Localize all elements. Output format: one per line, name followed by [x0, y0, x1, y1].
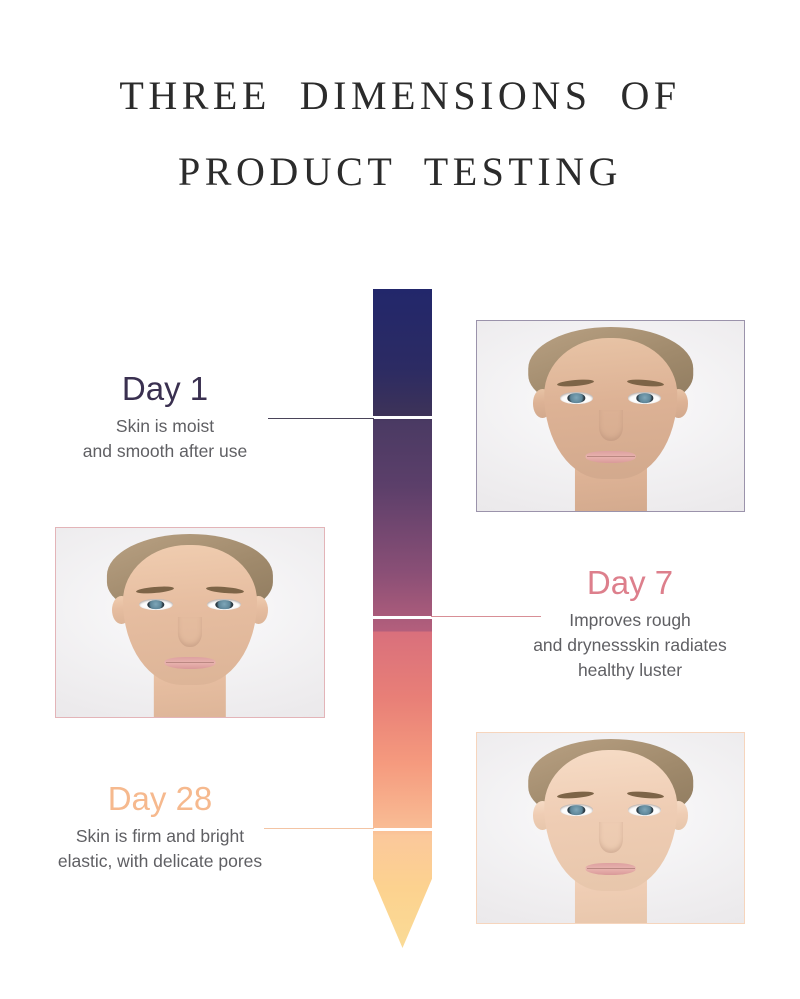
- portrait-iris-left: [568, 805, 585, 815]
- portrait-lip-line: [586, 868, 634, 869]
- timeline-bar: [373, 289, 432, 948]
- photo-day-28: [476, 732, 745, 924]
- page-title: THREE DIMENSIONS OF PRODUCT TESTING: [0, 58, 800, 210]
- photo-day-1: [476, 320, 745, 512]
- portrait-eye-left: [560, 804, 593, 815]
- portrait-eye-right: [207, 599, 241, 610]
- portrait-lip-line: [586, 456, 634, 457]
- portrait-lip-line: [166, 662, 214, 663]
- portrait-image-day-1: [477, 321, 744, 511]
- milestone-day-7: Day 7 Improves rough and drynessskin rad…: [470, 562, 790, 683]
- portrait-eye-left: [139, 599, 173, 610]
- milestone-description-day-1: Skin is moist and smooth after use: [0, 414, 330, 464]
- milestone-day-1: Day 1 Skin is moist and smooth after use: [0, 368, 330, 464]
- portrait-image-day-28: [477, 733, 744, 923]
- milestone-description-day-7: Improves rough and drynessskin radiates …: [470, 608, 790, 683]
- milestone-day-28: Day 28 Skin is firm and bright elastic, …: [0, 778, 320, 874]
- timeline-separator-1: [373, 416, 432, 419]
- portrait-nose: [178, 617, 202, 647]
- milestone-label-day-7: Day 7: [470, 562, 790, 604]
- milestone-description-day-28: Skin is firm and bright elastic, with de…: [0, 824, 320, 874]
- infographic-page: THREE DIMENSIONS OF PRODUCT TESTING Day …: [0, 0, 800, 999]
- portrait-nose: [598, 822, 622, 852]
- portrait-iris-left: [147, 600, 164, 610]
- portrait-iris-right: [636, 393, 653, 403]
- title-line-1: THREE DIMENSIONS OF: [0, 58, 800, 134]
- timeline-separator-3: [373, 828, 432, 831]
- portrait-eye-left: [560, 392, 593, 403]
- timeline-separator-2: [373, 616, 432, 619]
- portrait-iris-right: [215, 600, 232, 610]
- portrait-iris-right: [636, 805, 653, 815]
- photo-day-7: [55, 527, 325, 718]
- portrait-image-day-7: [56, 528, 324, 717]
- portrait-eye-right: [628, 392, 661, 403]
- portrait-nose: [598, 410, 622, 440]
- milestone-label-day-28: Day 28: [0, 778, 320, 820]
- title-line-2: PRODUCT TESTING: [0, 134, 800, 210]
- milestone-label-day-1: Day 1: [0, 368, 330, 410]
- portrait-eye-right: [628, 804, 661, 815]
- portrait-iris-left: [568, 393, 585, 403]
